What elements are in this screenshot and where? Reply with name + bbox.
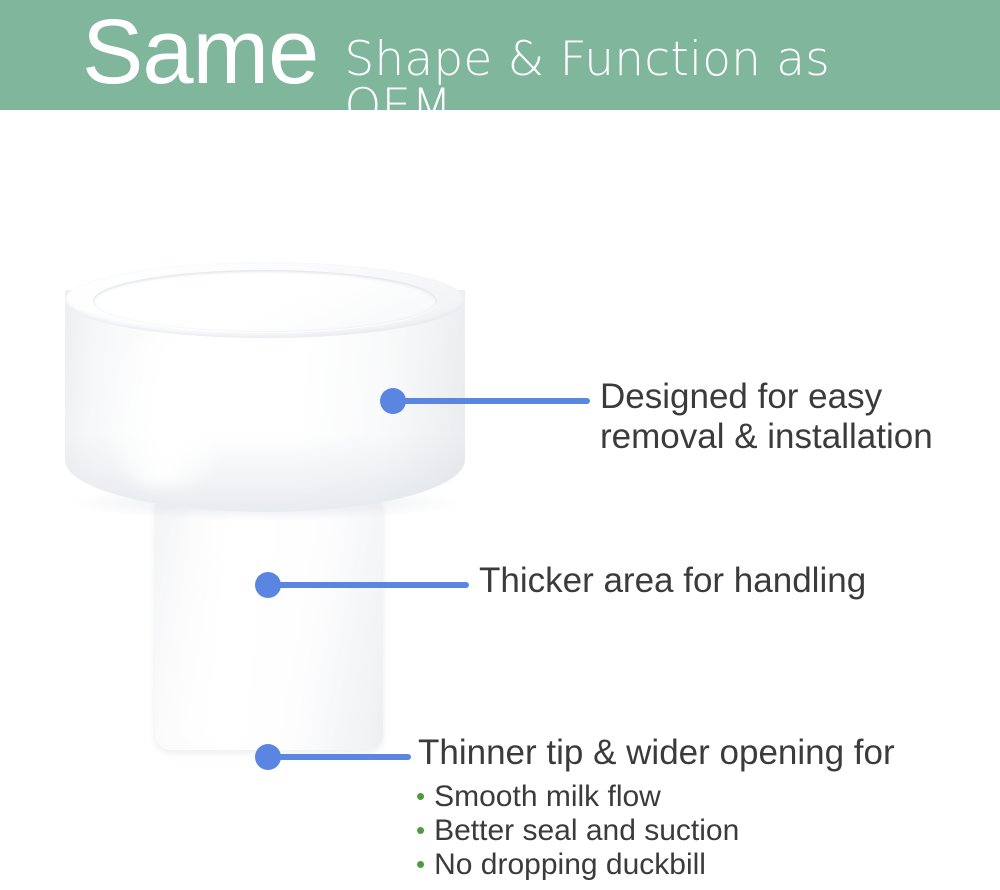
cap-highlight [107, 336, 227, 486]
product-image-duckbill-valve [55, 250, 485, 770]
list-item: • No dropping duckbill [416, 848, 739, 882]
headline-primary: Same [82, 6, 318, 98]
bullet-dot-icon: • [416, 813, 425, 847]
callout-line-cap [398, 398, 590, 404]
stem-highlight [177, 506, 269, 742]
list-item: • Smooth milk flow [416, 780, 739, 814]
header-banner: Same Shape & Function as OEM [0, 0, 1000, 110]
callout-label-cap: Designed for easy removal & installation [600, 377, 1000, 457]
callout-label-tip: Thinner tip & wider opening for [418, 733, 958, 773]
product-cap-inner-rim [93, 270, 437, 332]
list-item-label: Better seal and suction [434, 814, 739, 848]
list-item-label: Smooth milk flow [434, 780, 661, 814]
infographic-page: Same Shape & Function as OEM Designed fo… [0, 0, 1000, 890]
callout-line-tip [273, 754, 411, 760]
product-stem [155, 500, 383, 750]
headline-secondary: Shape & Function as OEM [344, 36, 950, 130]
bullet-dot-icon: • [416, 847, 425, 881]
list-item: • Better seal and suction [416, 814, 739, 848]
list-item-label: No dropping duckbill [434, 848, 706, 882]
benefit-bullet-list: • Smooth milk flow • Better seal and suc… [416, 780, 739, 882]
bullet-dot-icon: • [416, 779, 425, 813]
callout-line-stem [273, 582, 469, 588]
header-banner-content: Same Shape & Function as OEM [82, 0, 950, 110]
callout-label-stem: Thicker area for handling [479, 561, 949, 601]
